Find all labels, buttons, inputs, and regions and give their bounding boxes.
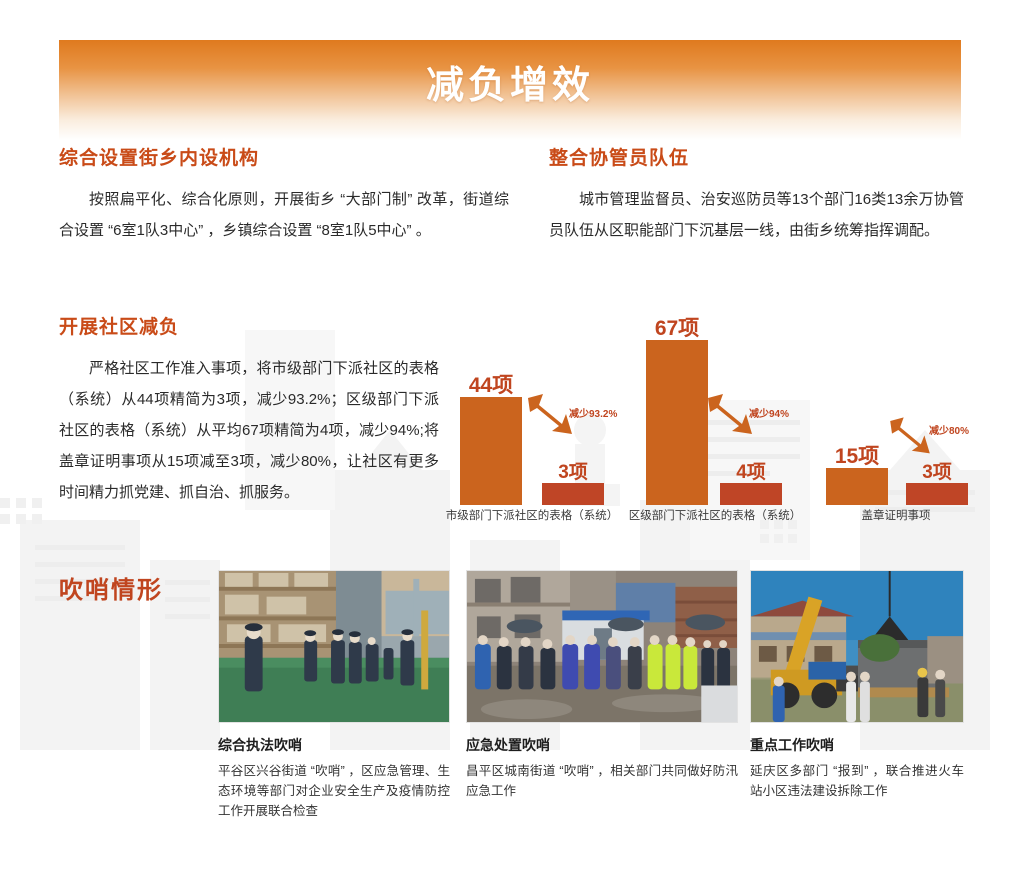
- photo-caption-1: 昌平区城南街道 “吹哨” ，相关部门共同做好防汛应急工作: [466, 761, 738, 801]
- reduction-arrow-1: [706, 388, 754, 438]
- bar-value-before-1: 67项: [646, 312, 708, 342]
- bar-before-1: 67项: [646, 340, 708, 505]
- reduction-label-0: 减少93.2%: [569, 405, 617, 420]
- bar-value-after-1: 4项: [720, 457, 782, 484]
- photo-card-1[interactable]: 应急处置吹哨 昌平区城南街道 “吹哨” ，相关部门共同做好防汛应急工作: [466, 570, 738, 801]
- reduction-arrow-0: [526, 388, 574, 438]
- section-heading-community: 开展社区减负: [59, 312, 439, 339]
- photo-card-2[interactable]: 重点工作吹哨 延庆区多部门 “报到” ，联合推进火车站小区违法建设拆除工作: [750, 570, 964, 801]
- photo-title-1: 应急处置吹哨: [466, 735, 738, 755]
- flood-response-photo[interactable]: [466, 570, 738, 723]
- x-label-2: 盖章证明事项: [816, 507, 976, 523]
- section-body-org: 按照扁平化、综合化原则，开展街乡 “大部门制” 改革，街道综合设置 “6室1队3…: [59, 184, 509, 246]
- reduction-bar-chart: 44项 3项 减少93.2% 67项 4项 减少94% 15项 3项 减少80%: [448, 300, 988, 540]
- warehouse-inspection-photo[interactable]: [218, 570, 450, 723]
- section-body-community: 严格社区工作准入事项，将市级部门下派社区的表格（系统）从44项精简为3项，减少9…: [59, 353, 439, 508]
- bar-value-before-2: 15项: [826, 440, 888, 470]
- bar-after-0: 3项: [542, 483, 604, 505]
- bar-after-1: 4项: [720, 483, 782, 505]
- section-heading-assistants: 整合协管员队伍: [549, 143, 964, 170]
- photo-title-0: 综合执法吹哨: [218, 735, 450, 755]
- page-title: 减负增效: [59, 54, 961, 109]
- x-label-1: 区级部门下派社区的表格（系统）: [623, 507, 807, 523]
- chart-plot-area: 44项 3项 减少93.2% 67项 4项 减少94% 15项 3项 减少80%: [448, 300, 988, 505]
- section-org-structure: 综合设置街乡内设机构 按照扁平化、综合化原则，开展街乡 “大部门制” 改革，街道…: [59, 143, 509, 246]
- reduction-label-2: 减少80%: [929, 422, 969, 437]
- photo-card-0[interactable]: 综合执法吹哨 平谷区兴谷街道 “吹哨” ，区应急管理、生态环境等部门对企业安全生…: [218, 570, 450, 821]
- reduction-label-1: 减少94%: [749, 405, 789, 420]
- section-community-reduction: 开展社区减负 严格社区工作准入事项，将市级部门下派社区的表格（系统）从44项精简…: [59, 312, 439, 508]
- bar-before-0: 44项: [460, 397, 522, 505]
- bar-value-after-0: 3项: [542, 457, 604, 484]
- photo-caption-2: 延庆区多部门 “报到” ，联合推进火车站小区违法建设拆除工作: [750, 761, 964, 801]
- bar-after-2: 3项: [906, 483, 968, 505]
- section-heading-org: 综合设置街乡内设机构: [59, 143, 509, 170]
- chart-x-axis-labels: 市级部门下派社区的表格（系统） 区级部门下派社区的表格（系统） 盖章证明事项: [448, 507, 988, 537]
- section-heading-whistle: 吹哨情形: [59, 570, 163, 605]
- bar-before-2: 15项: [826, 468, 888, 505]
- section-body-assistants: 城市管理监督员、治安巡防员等13个部门16类13余万协管员队伍从区职能部门下沉基…: [549, 184, 964, 246]
- header-banner: 减负增效: [59, 40, 961, 140]
- photo-title-2: 重点工作吹哨: [750, 735, 964, 755]
- bar-value-after-2: 3项: [906, 457, 968, 484]
- section-assistants: 整合协管员队伍 城市管理监督员、治安巡防员等13个部门16类13余万协管员队伍从…: [549, 143, 964, 246]
- bar-value-before-0: 44项: [460, 369, 522, 399]
- demolition-crane-photo[interactable]: [750, 570, 964, 723]
- x-label-0: 市级部门下派社区的表格（系统）: [440, 507, 624, 523]
- reduction-arrow-2: [888, 412, 932, 457]
- photo-caption-0: 平谷区兴谷街道 “吹哨” ，区应急管理、生态环境等部门对企业安全生产及疫情防控工…: [218, 761, 450, 821]
